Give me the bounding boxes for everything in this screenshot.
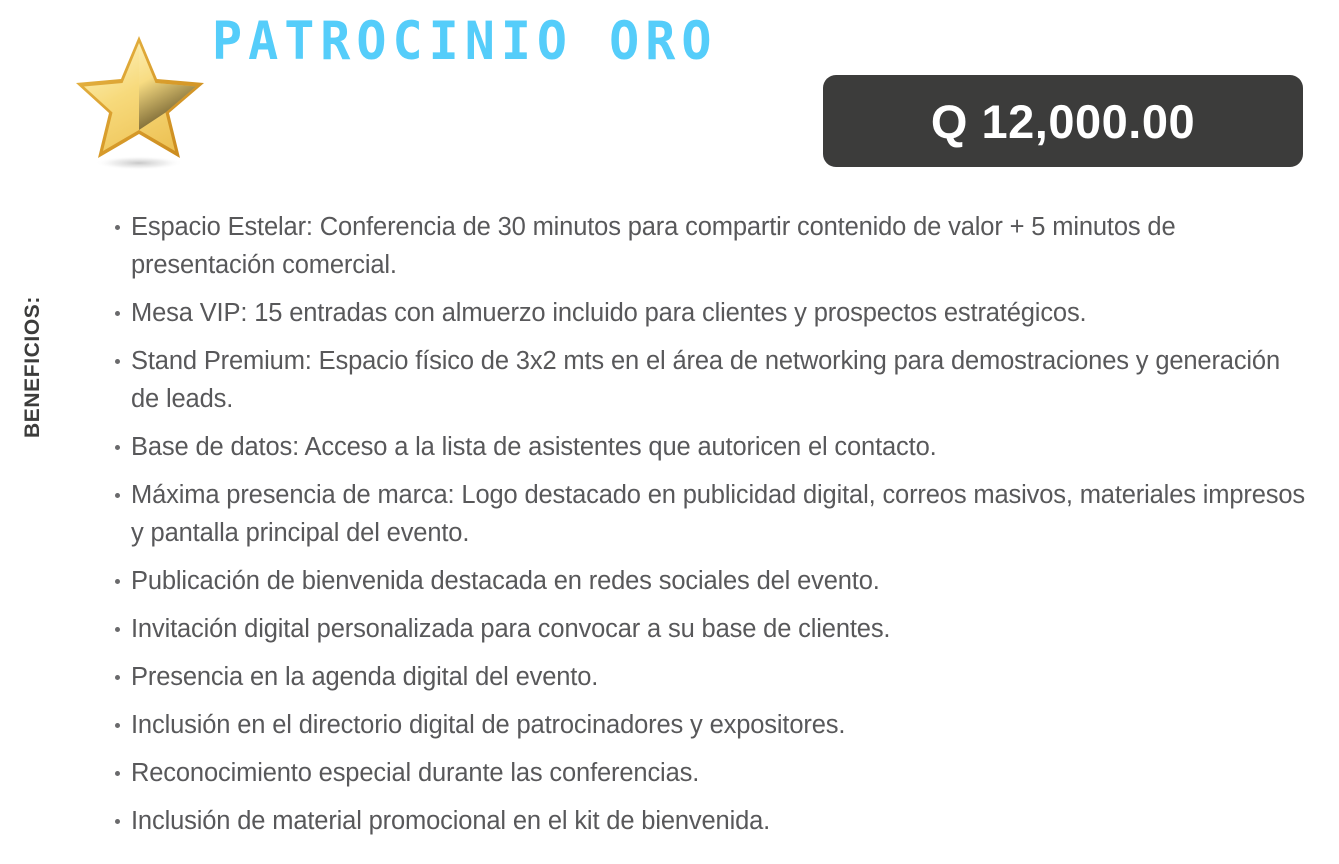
- benefit-text: Presencia en la agenda digital del event…: [131, 663, 598, 691]
- bullet-dot-icon: [115, 579, 120, 584]
- bullet-dot-icon: [115, 311, 120, 316]
- benefit-item: Espacio Estelar: Conferencia de 30 minut…: [108, 208, 1308, 284]
- benefit-text: Máxima presencia de marca: Logo destacad…: [131, 481, 1305, 547]
- gold-star-icon: [76, 30, 204, 178]
- bullet-dot-icon: [115, 723, 120, 728]
- benefit-text: Espacio Estelar: Conferencia de 30 minut…: [131, 213, 1175, 279]
- bullet-dot-icon: [115, 225, 120, 230]
- bullet-dot-icon: [115, 627, 120, 632]
- benefit-text: Stand Premium: Espacio físico de 3x2 mts…: [131, 347, 1280, 413]
- benefit-text: Invitación digital personalizada para co…: [131, 615, 890, 643]
- benefit-item: Publicación de bienvenida destacada en r…: [108, 562, 1308, 600]
- benefits-side-label: BENEFICIOS:: [21, 262, 45, 472]
- benefit-text: Inclusión en el directorio digital de pa…: [131, 711, 845, 739]
- bullet-dot-icon: [115, 675, 120, 680]
- benefit-text: Inclusión de material promocional en el …: [131, 807, 770, 835]
- bullet-dot-icon: [115, 771, 120, 776]
- benefits-list: Espacio Estelar: Conferencia de 30 minut…: [108, 208, 1308, 850]
- bullet-dot-icon: [115, 493, 120, 498]
- bullet-dot-icon: [115, 445, 120, 450]
- benefit-item: Stand Premium: Espacio físico de 3x2 mts…: [108, 342, 1308, 418]
- benefit-item: Presencia en la agenda digital del event…: [108, 658, 1308, 696]
- benefit-item: Mesa VIP: 15 entradas con almuerzo inclu…: [108, 294, 1308, 332]
- benefit-item: Invitación digital personalizada para co…: [108, 610, 1308, 648]
- page-title: PATROCINIO ORO: [212, 8, 717, 74]
- price-badge: Q 12,000.00: [823, 75, 1303, 167]
- benefit-item: Máxima presencia de marca: Logo destacad…: [108, 476, 1308, 552]
- benefit-item: Inclusión en el directorio digital de pa…: [108, 706, 1308, 744]
- benefit-text: Mesa VIP: 15 entradas con almuerzo inclu…: [131, 299, 1087, 327]
- bullet-dot-icon: [115, 819, 120, 824]
- tier-header: PATROCINIO ORO Q 12,000.00: [0, 0, 1339, 180]
- benefit-text: Reconocimiento especial durante las conf…: [131, 759, 699, 787]
- benefit-item: Base de datos: Acceso a la lista de asis…: [108, 428, 1308, 466]
- benefit-item: Reconocimiento especial durante las conf…: [108, 754, 1308, 792]
- benefit-text: Base de datos: Acceso a la lista de asis…: [131, 433, 937, 461]
- benefit-item: Inclusión de material promocional en el …: [108, 802, 1308, 840]
- bullet-dot-icon: [115, 359, 120, 364]
- price-amount: Q 12,000.00: [931, 98, 1195, 145]
- benefit-text: Publicación de bienvenida destacada en r…: [131, 567, 880, 595]
